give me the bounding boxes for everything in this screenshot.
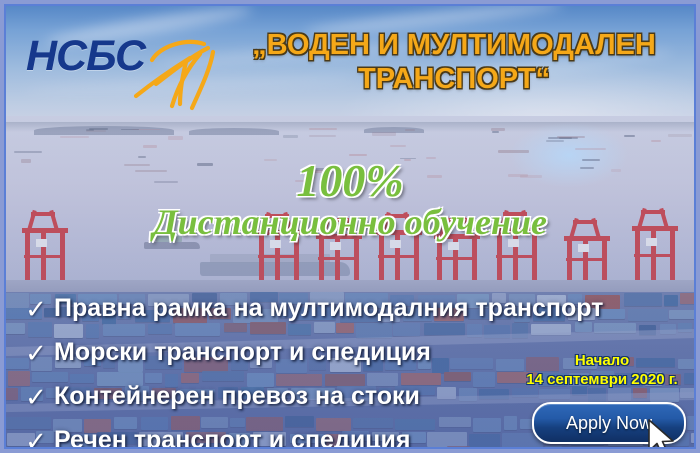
list-item-label: Морски транспорт и спедиция [54,338,431,367]
cta-area: Apply Now [532,402,686,444]
check-icon: ✓ [18,384,54,410]
list-item-label: Контейнерен превоз на стоки [54,382,420,411]
start-label: Начало [504,352,700,371]
apply-now-button[interactable]: Apply Now [532,402,686,444]
nsbs-logo[interactable]: НСБС [26,28,216,114]
start-date-block: Начало 14 септември 2020 г. [504,352,700,390]
subheading: Дистанционно обучение [4,201,696,243]
list-item-label: Правна рамка на мултимодалния транспорт [54,294,603,323]
start-date: 14 септември 2020 г. [504,371,700,390]
list-item-label: Речен транспорт и спедиция [54,426,411,453]
page-title: „ВОДЕН И МУЛТИМОДАЛЕН ТРАНСПОРТ“ [219,28,689,96]
list-item: ✓ Правна рамка на мултимодалния транспор… [18,289,698,328]
check-icon: ✓ [18,428,54,453]
check-icon: ✓ [18,340,54,366]
check-icon: ✓ [18,296,54,322]
converging-routes-icon [130,34,218,119]
logo-wordmark: НСБС [26,32,145,81]
promo-banner: НСБС „ВОДЕН И МУЛТИМОДАЛЕН ТРАНСПОРТ“ 10… [0,0,700,453]
percent-highlight: 100% [4,154,696,207]
